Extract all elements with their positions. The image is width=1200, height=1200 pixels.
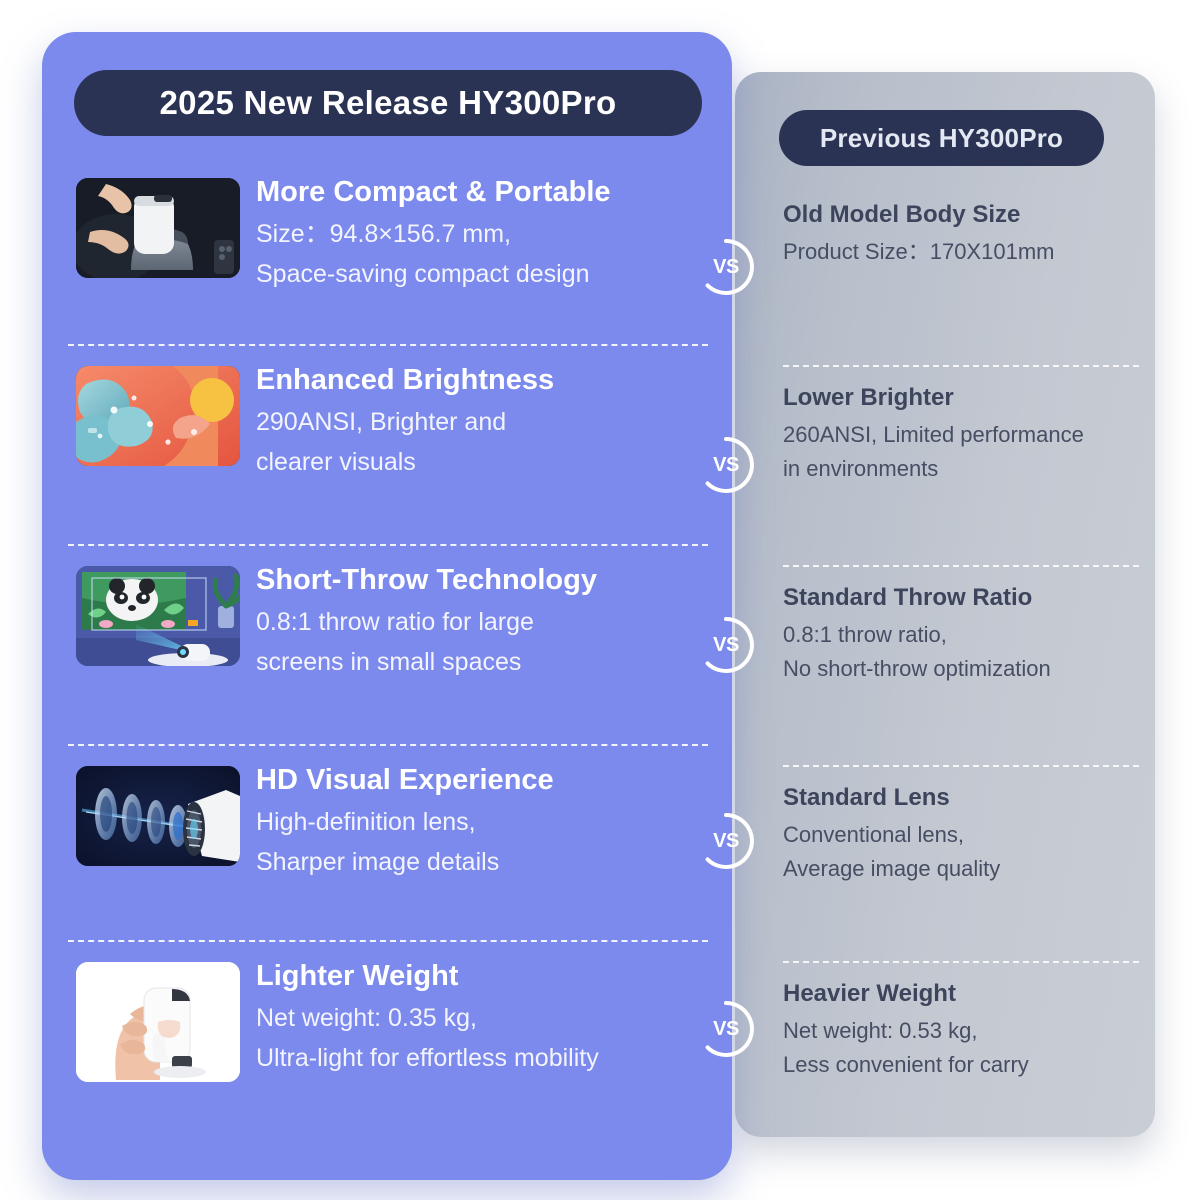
new-row-text: HD Visual Experience High-definition len… [256,760,708,882]
new-row-text: Lighter Weight Net weight: 0.35 kg, Ultr… [256,956,708,1078]
new-row-short-throw: Short-Throw Technology 0.8:1 throw ratio… [68,544,708,744]
new-row-title: Enhanced Brightness [256,362,708,400]
previous-row-line-1: Product Size：170X101mm [783,235,1139,268]
new-row-line-1: Size：94.8×156.7 mm, [256,214,708,254]
new-row-compact-portable: More Compact & Portable Size：94.8×156.7 … [68,158,708,344]
vs-badge: VS [697,1000,755,1058]
new-row-line-2: Ultra-light for effortless mobility [256,1038,708,1078]
new-row-title: Short-Throw Technology [256,562,708,600]
previous-model-row-list: Old Model Body Size Product Size：170X101… [783,184,1139,1131]
new-model-row-list: More Compact & Portable Size：94.8×156.7 … [68,158,708,1130]
previous-row-weight: Heavier Weight Net weight: 0.53 kg, Less… [783,961,1139,1131]
vs-badge: VS [697,812,755,870]
new-row-line-2: Space-saving compact design [256,254,708,294]
vs-badge: VS [697,238,755,296]
previous-row-title: Standard Throw Ratio [783,581,1139,614]
glossy-flowers-color-photo [76,366,240,466]
previous-row-title: Standard Lens [783,781,1139,814]
new-row-lighter-weight: Lighter Weight Net weight: 0.35 kg, Ultr… [68,940,708,1130]
previous-row-throw-ratio: Standard Throw Ratio 0.8:1 throw ratio, … [783,565,1139,765]
new-row-title: Lighter Weight [256,958,708,996]
previous-row-line-2: in environments [783,452,1139,485]
new-row-line-1: 0.8:1 throw ratio for large [256,602,708,642]
previous-row-line-1: Conventional lens, [783,818,1139,851]
new-model-header-label: 2025 New Release HY300Pro [160,84,617,122]
new-row-line-2: Sharper image details [256,842,708,882]
previous-row-brightness: Lower Brighter 260ANSI, Limited performa… [783,365,1139,565]
previous-row-line-1: 0.8:1 throw ratio, [783,618,1139,651]
vs-badge-label: VS [697,616,755,674]
new-row-line-2: screens in small spaces [256,642,708,682]
previous-row-line-2: Less convenient for carry [783,1048,1139,1081]
new-row-line-1: Net weight: 0.35 kg, [256,998,708,1038]
new-row-text: Short-Throw Technology 0.8:1 throw ratio… [256,560,708,682]
new-row-title: HD Visual Experience [256,762,708,800]
previous-row-line-2: Average image quality [783,852,1139,885]
previous-model-header-label: Previous HY300Pro [820,123,1063,154]
new-model-panel: 2025 New Release HY300Pro [42,32,732,1180]
previous-row-title: Heavier Weight [783,977,1139,1010]
previous-row-line-1: 260ANSI, Limited performance [783,418,1139,451]
vs-badge: VS [697,436,755,494]
new-row-title: More Compact & Portable [256,174,708,212]
previous-model-panel: Previous HY300Pro Old Model Body Size Pr… [735,72,1155,1137]
comparison-infographic: Previous HY300Pro Old Model Body Size Pr… [0,0,1200,1200]
vs-badge-label: VS [697,436,755,494]
lens-exploded-view-photo [76,766,240,866]
hand-holding-projector-photo [76,962,240,1082]
projector-in-backpack-photo [76,178,240,278]
previous-row-title: Old Model Body Size [783,198,1139,231]
new-row-line-1: 290ANSI, Brighter and [256,402,708,442]
vs-badge-label: VS [697,1000,755,1058]
new-row-hd-visual: HD Visual Experience High-definition len… [68,744,708,940]
previous-row-body-size: Old Model Body Size Product Size：170X101… [783,184,1139,365]
vs-badge-label: VS [697,812,755,870]
vs-badge-label: VS [697,238,755,296]
previous-row-title: Lower Brighter [783,381,1139,414]
previous-row-lens: Standard Lens Conventional lens, Average… [783,765,1139,961]
new-model-header-pill: 2025 New Release HY300Pro [74,70,702,136]
new-row-line-2: clearer visuals [256,442,708,482]
new-row-brightness: Enhanced Brightness 290ANSI, Brighter an… [68,344,708,544]
projector-panda-projection-photo [76,566,240,666]
vs-badge: VS [697,616,755,674]
previous-model-header-pill: Previous HY300Pro [779,110,1104,166]
previous-row-line-1: Net weight: 0.53 kg, [783,1014,1139,1047]
new-row-line-1: High-definition lens, [256,802,708,842]
previous-row-line-2: No short-throw optimization [783,652,1139,685]
new-row-text: Enhanced Brightness 290ANSI, Brighter an… [256,360,708,482]
new-row-text: More Compact & Portable Size：94.8×156.7 … [256,172,708,294]
